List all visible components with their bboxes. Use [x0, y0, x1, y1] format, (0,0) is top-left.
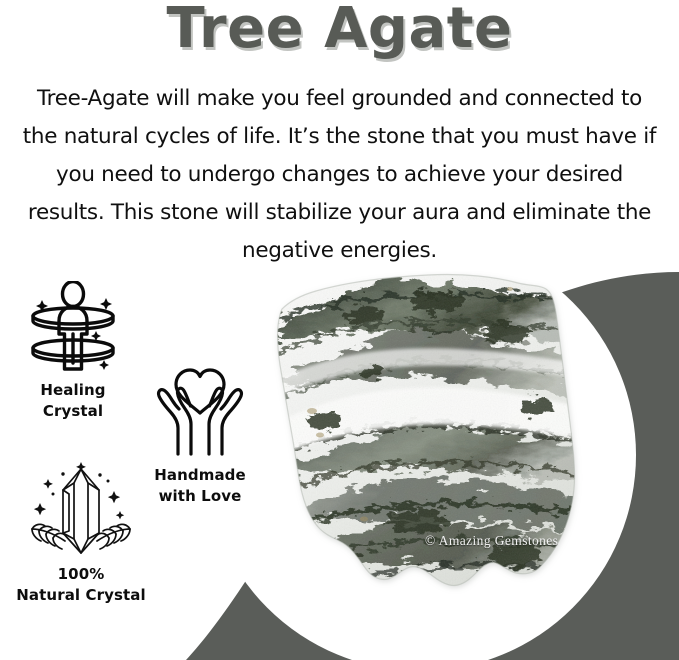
image-watermark: © Amazing Gemstones: [425, 533, 558, 549]
badge-natural-crystal: 100% Natural Crystal: [6, 461, 156, 606]
description-text: Tree-Agate will make you feel grounded a…: [18, 80, 661, 270]
hands-holding-heart-icon: [133, 366, 267, 458]
badge-label: 100% Natural Crystal: [6, 564, 156, 606]
crystal-point-wheat-icon: [6, 461, 156, 557]
healing-aura-figure-icon: [6, 281, 140, 373]
badge-healing-crystal: Healing Crystal: [6, 281, 140, 422]
badge-label: Healing Crystal: [6, 380, 140, 422]
page-title: Tree Agate: [0, 0, 679, 61]
tree-agate-rough-stone: [268, 271, 590, 601]
product-infographic: Tree Agate Tree-Agate will make you feel…: [0, 0, 679, 660]
